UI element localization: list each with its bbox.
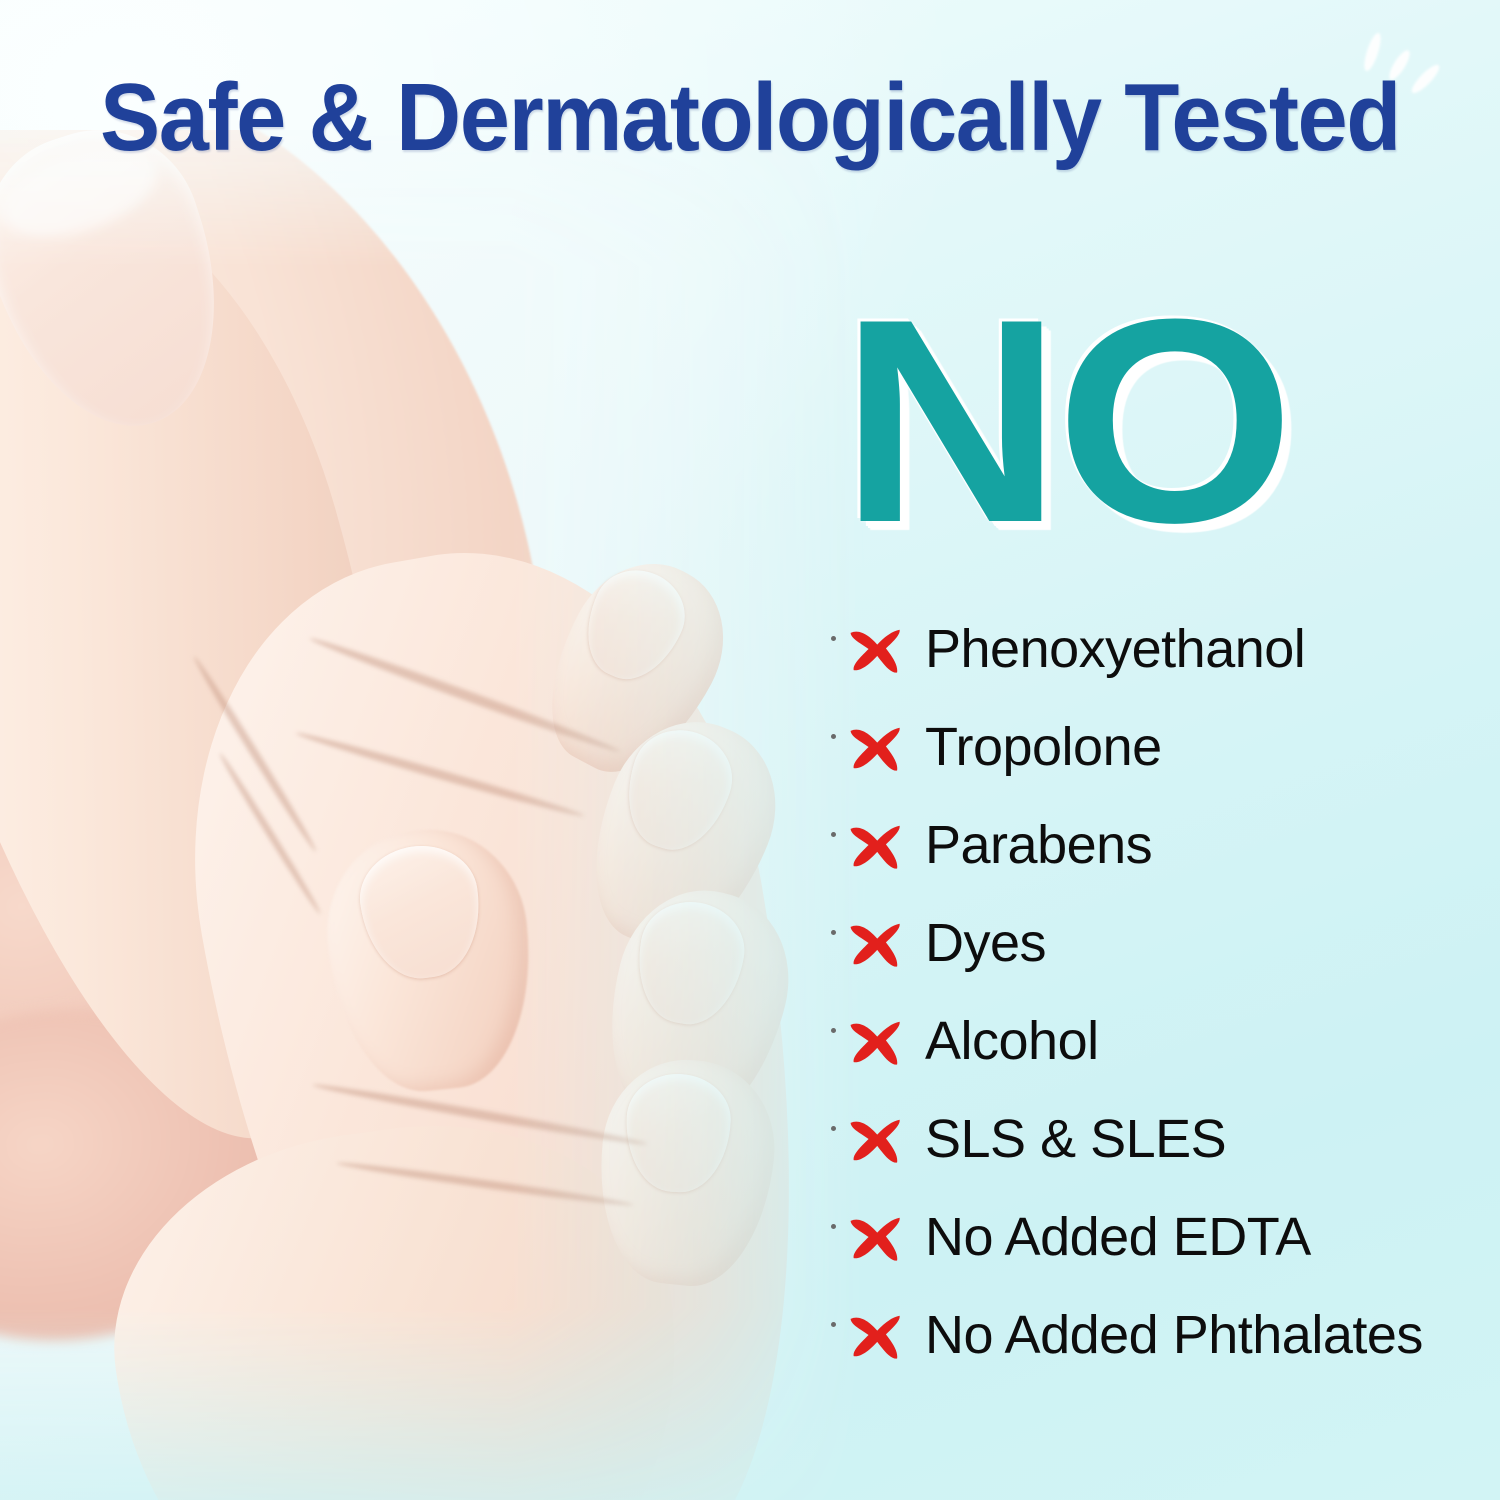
list-item: Dyes	[845, 894, 1495, 992]
red-brush-x-icon	[845, 814, 907, 876]
red-brush-x-icon	[845, 716, 907, 778]
list-item-label: SLS & SLES	[925, 1111, 1226, 1168]
speck-dot	[831, 1126, 836, 1131]
list-item-label: No Added EDTA	[925, 1209, 1311, 1266]
list-item: Tropolone	[845, 698, 1495, 796]
list-item: Phenoxyethanol	[845, 600, 1495, 698]
red-brush-x-icon	[845, 912, 907, 974]
promo-poster: Safe & Dermatologically Tested NO Phenox…	[0, 0, 1500, 1500]
no-badge: NO	[840, 276, 1288, 566]
speck-dot	[831, 1028, 836, 1033]
red-brush-x-icon	[845, 618, 907, 680]
speck-dot	[831, 1322, 836, 1327]
red-brush-x-icon	[845, 1010, 907, 1072]
page-title: Safe & Dermatologically Tested	[45, 70, 1455, 166]
list-item: SLS & SLES	[845, 1090, 1495, 1188]
speck-dot	[831, 930, 836, 935]
speck-dot	[831, 734, 836, 739]
red-brush-x-icon	[845, 1304, 907, 1366]
baby-hand-photo	[0, 130, 880, 1500]
list-item-label: No Added Phthalates	[925, 1307, 1423, 1364]
list-item: No Added EDTA	[845, 1188, 1495, 1286]
speck-dot	[831, 636, 836, 641]
list-item-label: Parabens	[925, 817, 1152, 874]
list-item: No Added Phthalates	[845, 1286, 1495, 1384]
list-item-label: Alcohol	[925, 1013, 1099, 1070]
list-item-label: Tropolone	[925, 719, 1162, 776]
speck-dot	[831, 1224, 836, 1229]
excluded-ingredients-list: Phenoxyethanol Tropolone Parabens Dyes	[845, 600, 1495, 1384]
list-item-label: Phenoxyethanol	[925, 621, 1305, 678]
red-brush-x-icon	[845, 1206, 907, 1268]
list-item: Parabens	[845, 796, 1495, 894]
list-item: Alcohol	[845, 992, 1495, 1090]
list-item-label: Dyes	[925, 915, 1046, 972]
red-brush-x-icon	[845, 1108, 907, 1170]
speck-dot	[831, 832, 836, 837]
